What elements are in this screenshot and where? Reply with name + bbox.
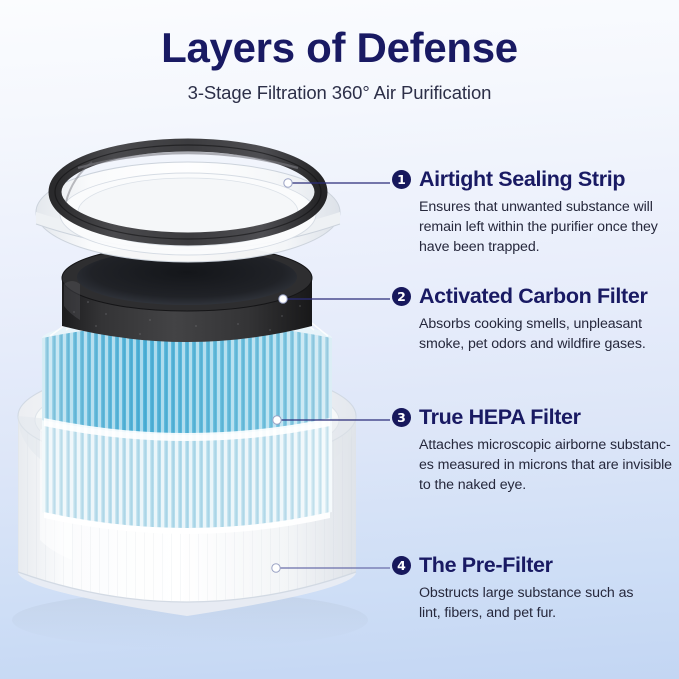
callout-3-line-2: es measured in microns that are invisibl… bbox=[419, 455, 672, 475]
callout-3-line-1: Attaches microscopic airborne substanc- bbox=[419, 435, 672, 455]
callout-3-body: Attaches microscopic airborne substanc- … bbox=[419, 435, 672, 495]
callout-4-heading: 4 The Pre-Filter bbox=[392, 554, 633, 578]
callout-3-title: True HEPA Filter bbox=[419, 406, 581, 430]
badge-number-2: 2 bbox=[392, 287, 411, 306]
page-title: Layers of Defense bbox=[0, 0, 679, 71]
callout-1-body: Ensures that unwanted substance will rem… bbox=[419, 197, 658, 257]
badge-number-1: 1 bbox=[392, 170, 411, 189]
infographic-page: Layers of Defense 3-Stage Filtration 360… bbox=[0, 0, 679, 679]
page-subtitle: 3-Stage Filtration 360° Air Purification bbox=[0, 71, 679, 104]
sealing-strip-layer bbox=[36, 145, 340, 262]
callout-1-line-2: remain left within the purifier once the… bbox=[419, 217, 658, 237]
callout-2: 2 Activated Carbon Filter Absorbs cookin… bbox=[392, 285, 648, 354]
callout-3-line-3: to the naked eye. bbox=[419, 475, 672, 495]
callout-2-heading: 2 Activated Carbon Filter bbox=[392, 285, 648, 309]
callout-3-heading: 3 True HEPA Filter bbox=[392, 406, 672, 430]
product-illustration bbox=[0, 120, 375, 660]
callout-2-body: Absorbs cooking smells, unpleasant smoke… bbox=[419, 314, 648, 354]
callout-1: 1 Airtight Sealing Strip Ensures that un… bbox=[392, 168, 658, 257]
callout-2-title: Activated Carbon Filter bbox=[419, 285, 648, 309]
callout-2-line-1: Absorbs cooking smells, unpleasant bbox=[419, 314, 648, 334]
callout-4-line-1: Obstructs large substance such as bbox=[419, 583, 633, 603]
callout-2-line-2: smoke, pet odors and wildfire gases. bbox=[419, 334, 648, 354]
callout-3: 3 True HEPA Filter Attaches microscopic … bbox=[392, 406, 672, 495]
callout-4-title: The Pre-Filter bbox=[419, 554, 553, 578]
badge-number-4: 4 bbox=[392, 556, 411, 575]
header: Layers of Defense 3-Stage Filtration 360… bbox=[0, 0, 679, 104]
callout-1-heading: 1 Airtight Sealing Strip bbox=[392, 168, 658, 192]
callout-4-line-2: lint, fibers, and pet fur. bbox=[419, 603, 633, 623]
callout-1-line-3: have been trapped. bbox=[419, 237, 658, 257]
callout-1-line-1: Ensures that unwanted substance will bbox=[419, 197, 658, 217]
callout-4-body: Obstructs large substance such as lint, … bbox=[419, 583, 633, 623]
callout-1-title: Airtight Sealing Strip bbox=[419, 168, 625, 192]
callout-4: 4 The Pre-Filter Obstructs large substan… bbox=[392, 554, 633, 623]
badge-number-3: 3 bbox=[392, 408, 411, 427]
